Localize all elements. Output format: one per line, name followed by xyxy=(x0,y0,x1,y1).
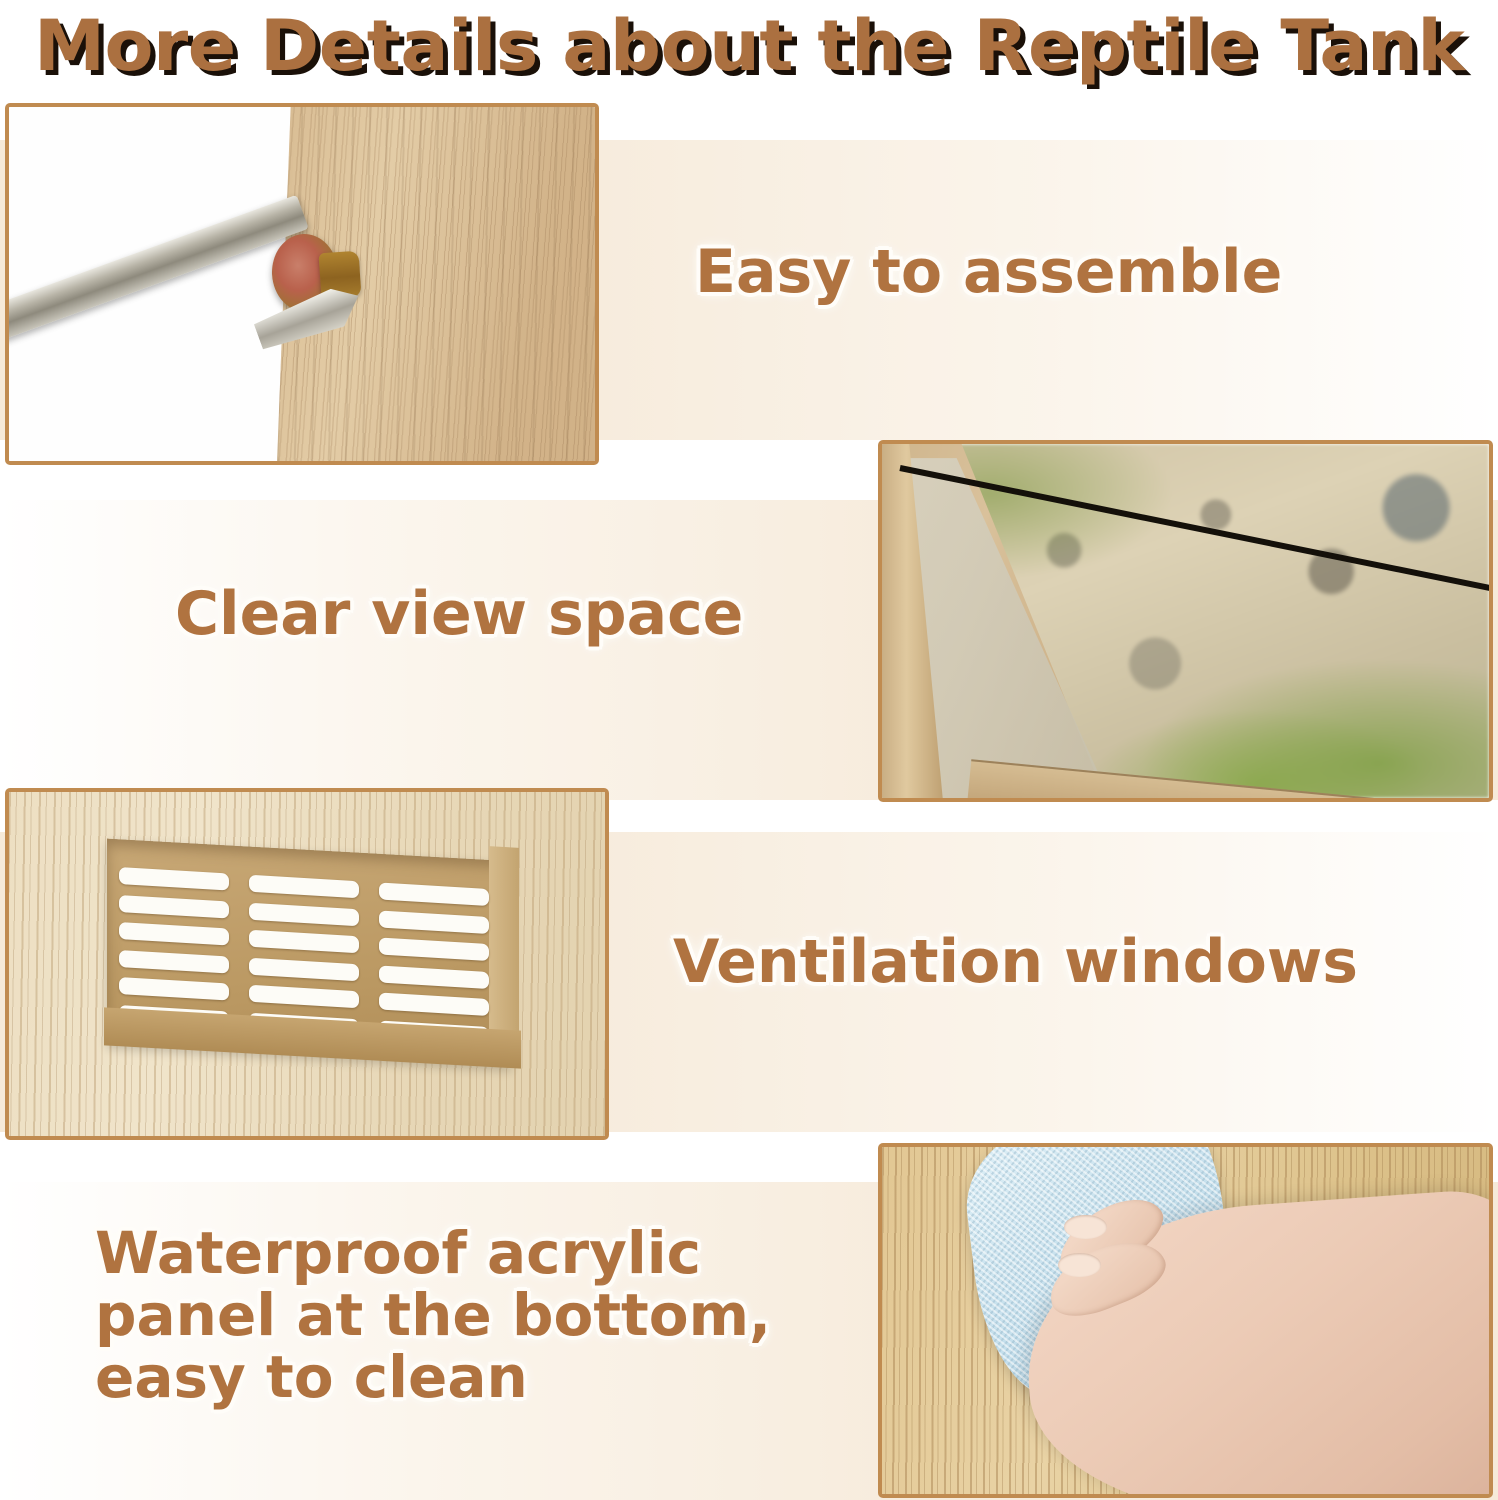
infographic-page: More Details about the Reptile Tank Easy… xyxy=(0,0,1498,1500)
feature-caption-easy-to-assemble: Easy to assemble xyxy=(695,240,1282,304)
vent-slot-column xyxy=(249,875,359,1036)
fingernail-graphic xyxy=(1064,1215,1106,1239)
feature-photo-clear-view-space xyxy=(878,440,1493,802)
feature-photo-easy-to-assemble xyxy=(5,103,599,465)
vent-slot xyxy=(379,910,489,934)
page-title: More Details about the Reptile Tank xyxy=(34,5,1464,87)
fingernail-graphic xyxy=(1058,1253,1100,1277)
vent-slot xyxy=(249,930,359,954)
feature-caption-ventilation-windows: Ventilation windows xyxy=(673,930,1358,994)
vent-slot xyxy=(119,950,229,974)
feature-photo-ventilation-windows xyxy=(5,788,609,1140)
page-header: More Details about the Reptile Tank xyxy=(0,0,1498,92)
vent-slot xyxy=(119,977,229,1001)
vent-slot-column xyxy=(379,882,489,1043)
vent-slot xyxy=(379,965,489,989)
vent-slot xyxy=(249,957,359,981)
vent-slot xyxy=(249,902,359,926)
vent-slot xyxy=(119,895,229,919)
feature-caption-clear-view-space: Clear view space xyxy=(175,582,743,646)
vent-slot xyxy=(379,938,489,962)
feature-photo-waterproof-acrylic-panel xyxy=(878,1143,1493,1498)
vent-slot xyxy=(249,985,359,1009)
vent-slot xyxy=(379,993,489,1017)
vent-slot-column xyxy=(119,867,229,1028)
vent-slot xyxy=(119,922,229,946)
feature-caption-waterproof-acrylic-panel: Waterproof acrylic panel at the bottom, … xyxy=(95,1222,771,1408)
